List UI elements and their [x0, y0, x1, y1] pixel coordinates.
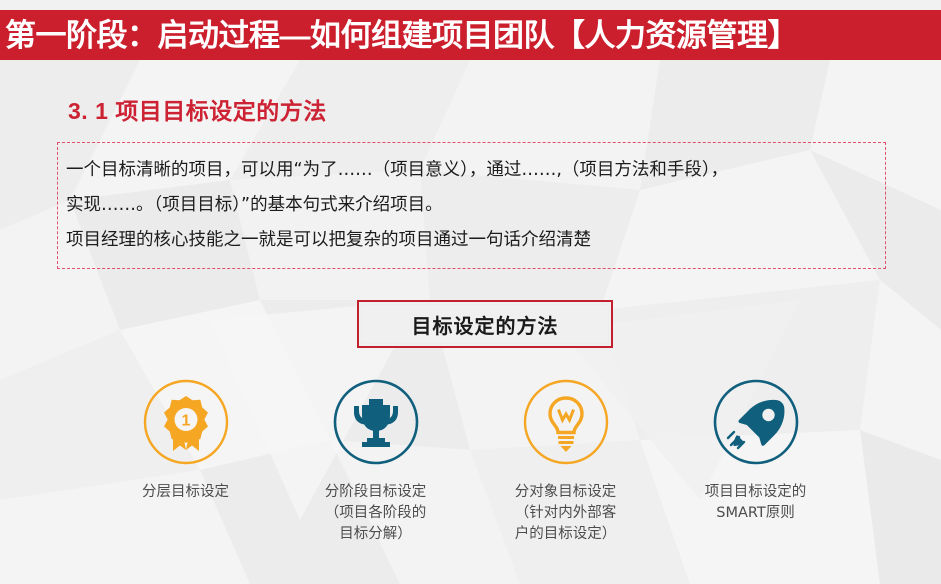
award-medal-icon-circle: 1: [142, 378, 230, 466]
feature-item-4[interactable]: 项目目标设定的 SMART原则: [661, 378, 851, 524]
paragraph-line-3: 项目经理的核心技能之一就是可以把复杂的项目通过一句话介绍清楚: [66, 223, 877, 258]
paragraph-line-1: 一个目标清晰的项目，可以用“为了……（项目意义），通过……,（项目方法和手段），: [66, 153, 877, 188]
paragraph-callout-box: 一个目标清晰的项目，可以用“为了……（项目意义），通过……,（项目方法和手段），…: [57, 142, 886, 269]
feature-caption-2: 分阶段目标设定 （项目各阶段的 目标分解）: [325, 482, 427, 545]
center-title-text: 目标设定的方法: [412, 310, 559, 339]
section-heading: 3. 1 项目目标设定的方法: [68, 92, 327, 126]
feature-item-1[interactable]: 1 分层目标设定: [91, 378, 281, 503]
award-badge-number: 1: [181, 413, 190, 430]
icon-row: 1 分层目标设定: [0, 378, 941, 578]
rocket-icon: [712, 378, 800, 466]
trophy-icon: [332, 378, 420, 466]
slide-root: 第一阶段：启动过程—如何组建项目团队【人力资源管理】 3. 1 项目目标设定的方…: [0, 0, 941, 584]
feature-caption-1: 分层目标设定: [142, 482, 229, 503]
paragraph-line-2: 实现……。（项目目标）”的基本句式来介绍项目。: [66, 188, 877, 223]
feature-caption-4: 项目目标设定的 SMART原则: [705, 482, 807, 524]
lightbulb-icon-circle: [522, 378, 610, 466]
award-medal-icon: 1: [142, 378, 230, 466]
feature-item-2[interactable]: 分阶段目标设定 （项目各阶段的 目标分解）: [281, 378, 471, 545]
trophy-icon-circle: [332, 378, 420, 466]
feature-caption-3: 分对象目标设定 （针对内外部客 户的目标设定）: [515, 482, 617, 545]
center-title-box: 目标设定的方法: [357, 300, 613, 348]
lightbulb-icon: [522, 378, 610, 466]
feature-item-3[interactable]: 分对象目标设定 （针对内外部客 户的目标设定）: [471, 378, 661, 545]
header-banner: 第一阶段：启动过程—如何组建项目团队【人力资源管理】: [0, 10, 941, 60]
rocket-icon-circle: [712, 378, 800, 466]
page-title: 第一阶段：启动过程—如何组建项目团队【人力资源管理】: [5, 20, 798, 51]
